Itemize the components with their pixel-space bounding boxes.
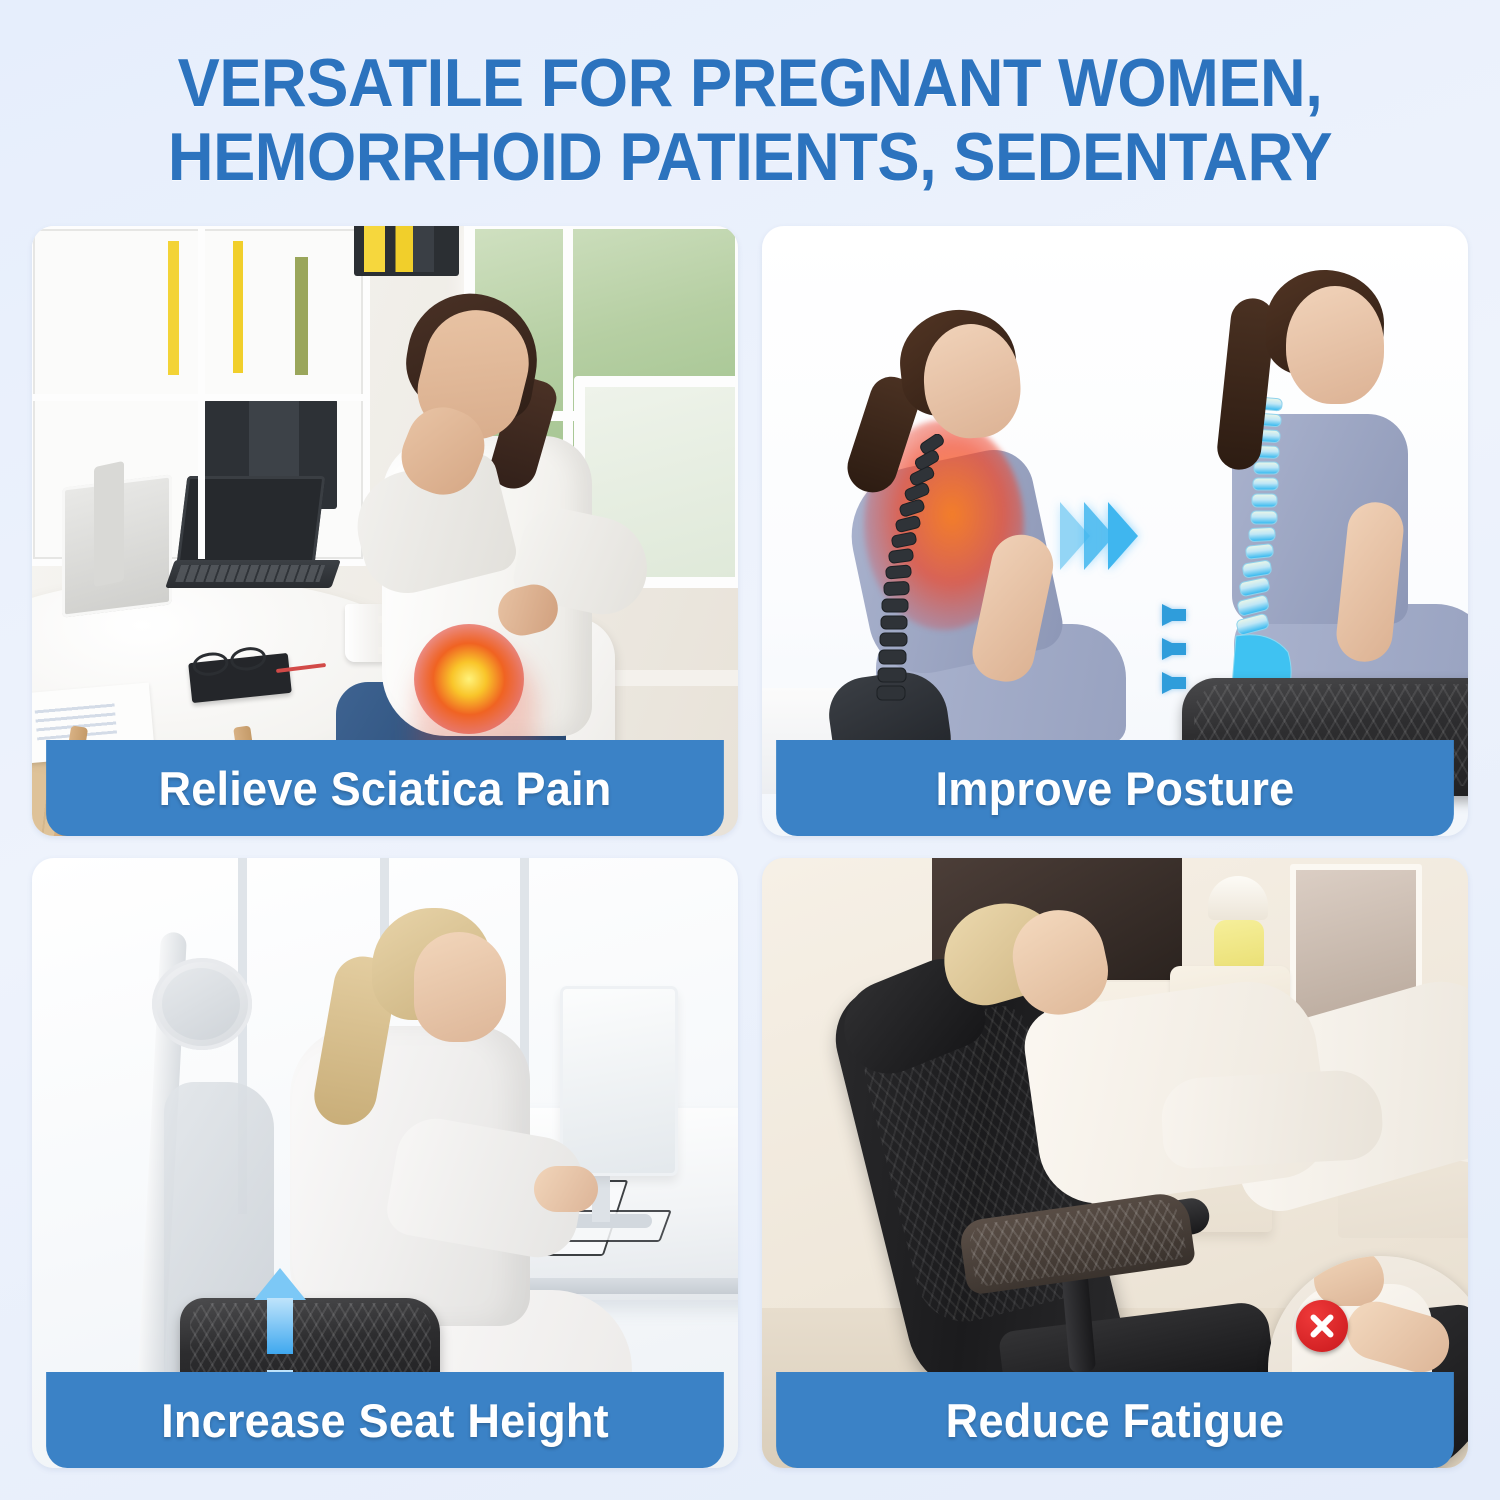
page-title: VERSATILE FOR PREGNANT WOMEN, HEMORRHOID…: [53, 46, 1448, 194]
green-book: [295, 257, 308, 375]
monitor-side: [94, 461, 124, 587]
laptop: [168, 476, 328, 596]
panel-caption-relieve-sciatica-pain: Relieve Sciatica Pain: [46, 740, 724, 836]
page-title-line-2: HEMORRHOID PATIENTS, SEDENTARY: [53, 120, 1448, 194]
shelf-top-box: [354, 226, 459, 276]
yellow-book-2: [233, 241, 243, 373]
support-arrow-icon-1: [1162, 604, 1184, 626]
good-posture-head: [1286, 286, 1384, 404]
inset-head: [1314, 1256, 1384, 1306]
chair-headrest: [152, 958, 252, 1050]
woman-arm: [1160, 1068, 1384, 1169]
feature-panel-grid: Relieve Sciatica Pain: [32, 226, 1468, 1476]
panel-caption-reduce-fatigue: Reduce Fatigue: [776, 1372, 1454, 1468]
feature-panel-increase-seat-height[interactable]: Increase Seat Height: [32, 858, 738, 1468]
yellow-book: [168, 241, 179, 375]
page-title-line-1: VERSATILE FOR PREGNANT WOMEN,: [178, 45, 1323, 121]
chevron-right-arrows-icon: [1060, 498, 1156, 574]
woman-hand: [534, 1166, 598, 1212]
panel-caption-increase-seat-height: Increase Seat Height: [46, 1372, 724, 1468]
feature-panel-improve-posture[interactable]: Improve Posture: [762, 226, 1468, 836]
support-arrow-icon-3: [1162, 672, 1184, 694]
laptop-keyboard: [165, 560, 341, 588]
arrow-up-icon: [254, 1268, 306, 1354]
feature-panel-relieve-sciatica-pain[interactable]: Relieve Sciatica Pain: [32, 226, 738, 836]
support-arrow-icon-2: [1162, 638, 1184, 660]
feature-panel-reduce-fatigue[interactable]: Reduce Fatigue: [762, 858, 1468, 1468]
panel-caption-improve-posture: Improve Posture: [776, 740, 1454, 836]
woman-head: [414, 932, 506, 1042]
red-x-warning-icon: [1296, 1300, 1348, 1352]
pain-marker-neck-icon: [414, 624, 524, 734]
books-row-top-left: [41, 237, 181, 377]
